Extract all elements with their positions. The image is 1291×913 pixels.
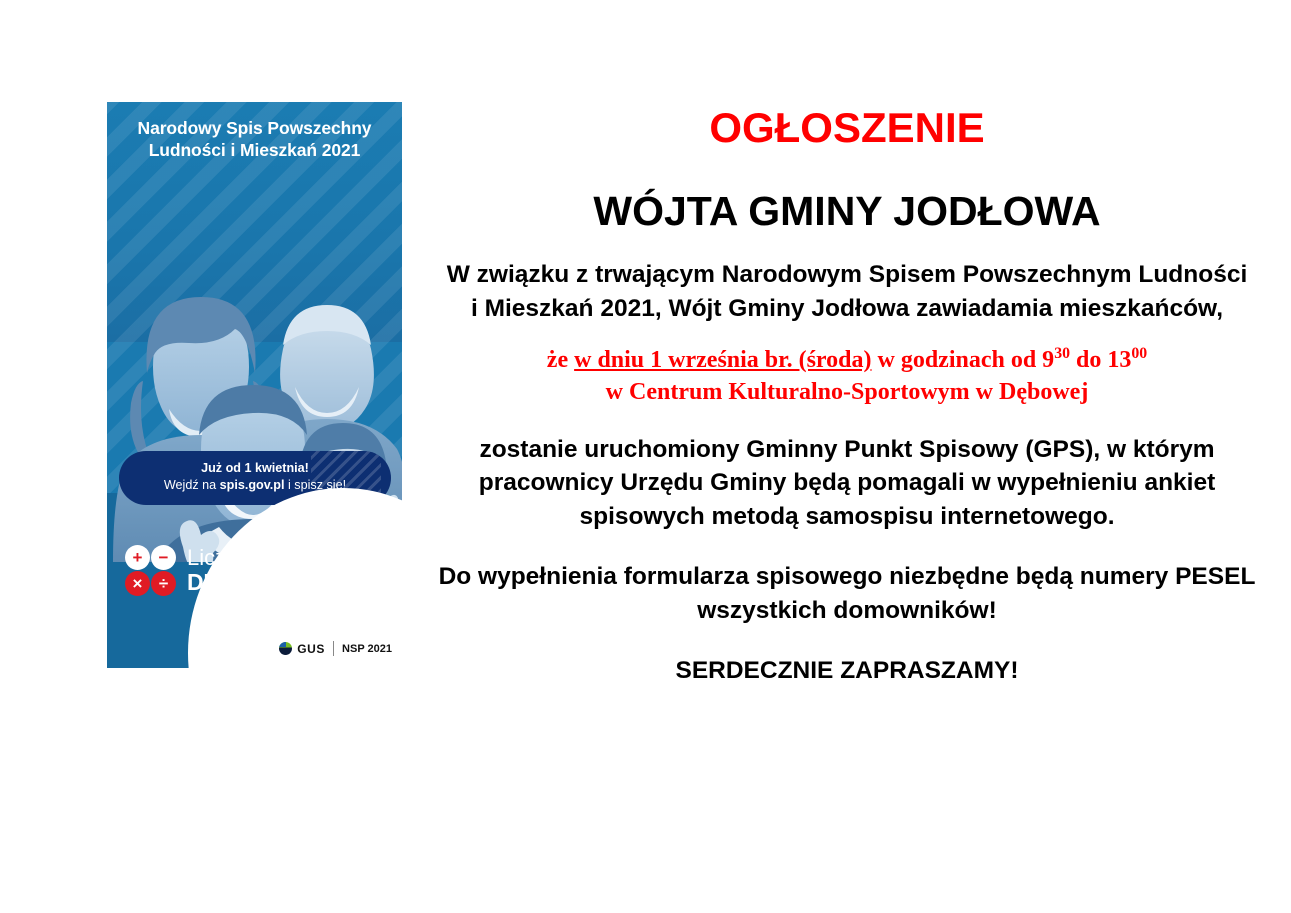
red-notice-middle2: do 13 [1070, 347, 1131, 373]
red-notice-sup2: 00 [1131, 345, 1147, 362]
cta-line2-pre: Wejdź na [164, 478, 220, 492]
paragraph-gps-line3: spisowych metodą samospisu internetowego… [579, 503, 1114, 530]
divide-icon: ÷ [151, 571, 176, 596]
announcement-heading: OGŁOSZENIE [432, 105, 1262, 151]
closing-invitation: SERDECZNIE ZAPRASZAMY! [432, 654, 1262, 688]
cta-link-spis-gov-pl[interactable]: spis.gov.pl [220, 478, 285, 492]
plus-icon: + [125, 545, 150, 570]
gus-mark-icon [279, 642, 292, 655]
paragraph-gps-line2: pracownicy Urzędu Gminy będą pomagali w … [479, 469, 1216, 496]
gus-logo-subtitle: NSP 2021 [342, 643, 392, 655]
paragraph-intro: W związku z trwającym Narodowym Spisem P… [432, 258, 1262, 326]
poster-title-line2: Ludności i Mieszkań 2021 [115, 139, 394, 161]
cta-line1: Już od 1 kwietnia! [119, 460, 391, 477]
times-icon: × [125, 571, 150, 596]
red-notice-middle: w godzinach od 9 [871, 347, 1054, 373]
paragraph-pesel-line2: wszystkich domowników! [697, 597, 997, 624]
operator-icons: + − × ÷ [125, 545, 176, 596]
gus-logo-text: GUS [297, 642, 325, 656]
paragraph-intro-line1: W związku z trwającym Narodowym Spisem P… [447, 261, 1248, 288]
slogan-line1: Liczymy się [187, 546, 331, 570]
gus-logo-divider [333, 641, 334, 656]
slogan-text: Liczymy się DLA POLSKI! [187, 546, 331, 595]
red-notice-underlined: w dniu 1 września br. (środa) [574, 347, 871, 373]
poster-title: Narodowy Spis Powszechny Ludności i Mies… [107, 117, 402, 161]
nsp-2021-poster: Narodowy Spis Powszechny Ludności i Mies… [107, 102, 402, 668]
paragraph-pesel: Do wypełnienia formularza spisowego niez… [432, 560, 1262, 628]
slogan-line2: DLA POLSKI! [187, 570, 331, 595]
red-notice-sup1: 30 [1054, 345, 1070, 362]
red-notice-line2: w Centrum Kulturalno-Sportowym w Dębowej [606, 379, 1089, 405]
announcement-content: OGŁOSZENIE WÓJTA GMINY JODŁOWA W związku… [432, 105, 1262, 687]
announcement-subheading: WÓJTA GMINY JODŁOWA [432, 189, 1262, 234]
red-notice-prefix: że [547, 347, 574, 373]
paragraph-pesel-line1: Do wypełnienia formularza spisowego niez… [439, 563, 1256, 590]
red-notice: że w dniu 1 września br. (środa) w godzi… [432, 343, 1262, 409]
poster-slogan-block: + − × ÷ Liczymy się DLA POLSKI! [125, 545, 331, 596]
minus-icon: − [151, 545, 176, 570]
paragraph-gps: zostanie uruchomiony Gminny Punkt Spisow… [432, 433, 1262, 534]
gus-logo: GUS NSP 2021 [279, 641, 392, 656]
poster-title-line1: Narodowy Spis Powszechny [115, 117, 394, 139]
paragraph-intro-line2: i Mieszkań 2021, Wójt Gminy Jodłowa zawi… [471, 295, 1223, 322]
paragraph-gps-line1: zostanie uruchomiony Gminny Punkt Spisow… [479, 436, 1214, 463]
